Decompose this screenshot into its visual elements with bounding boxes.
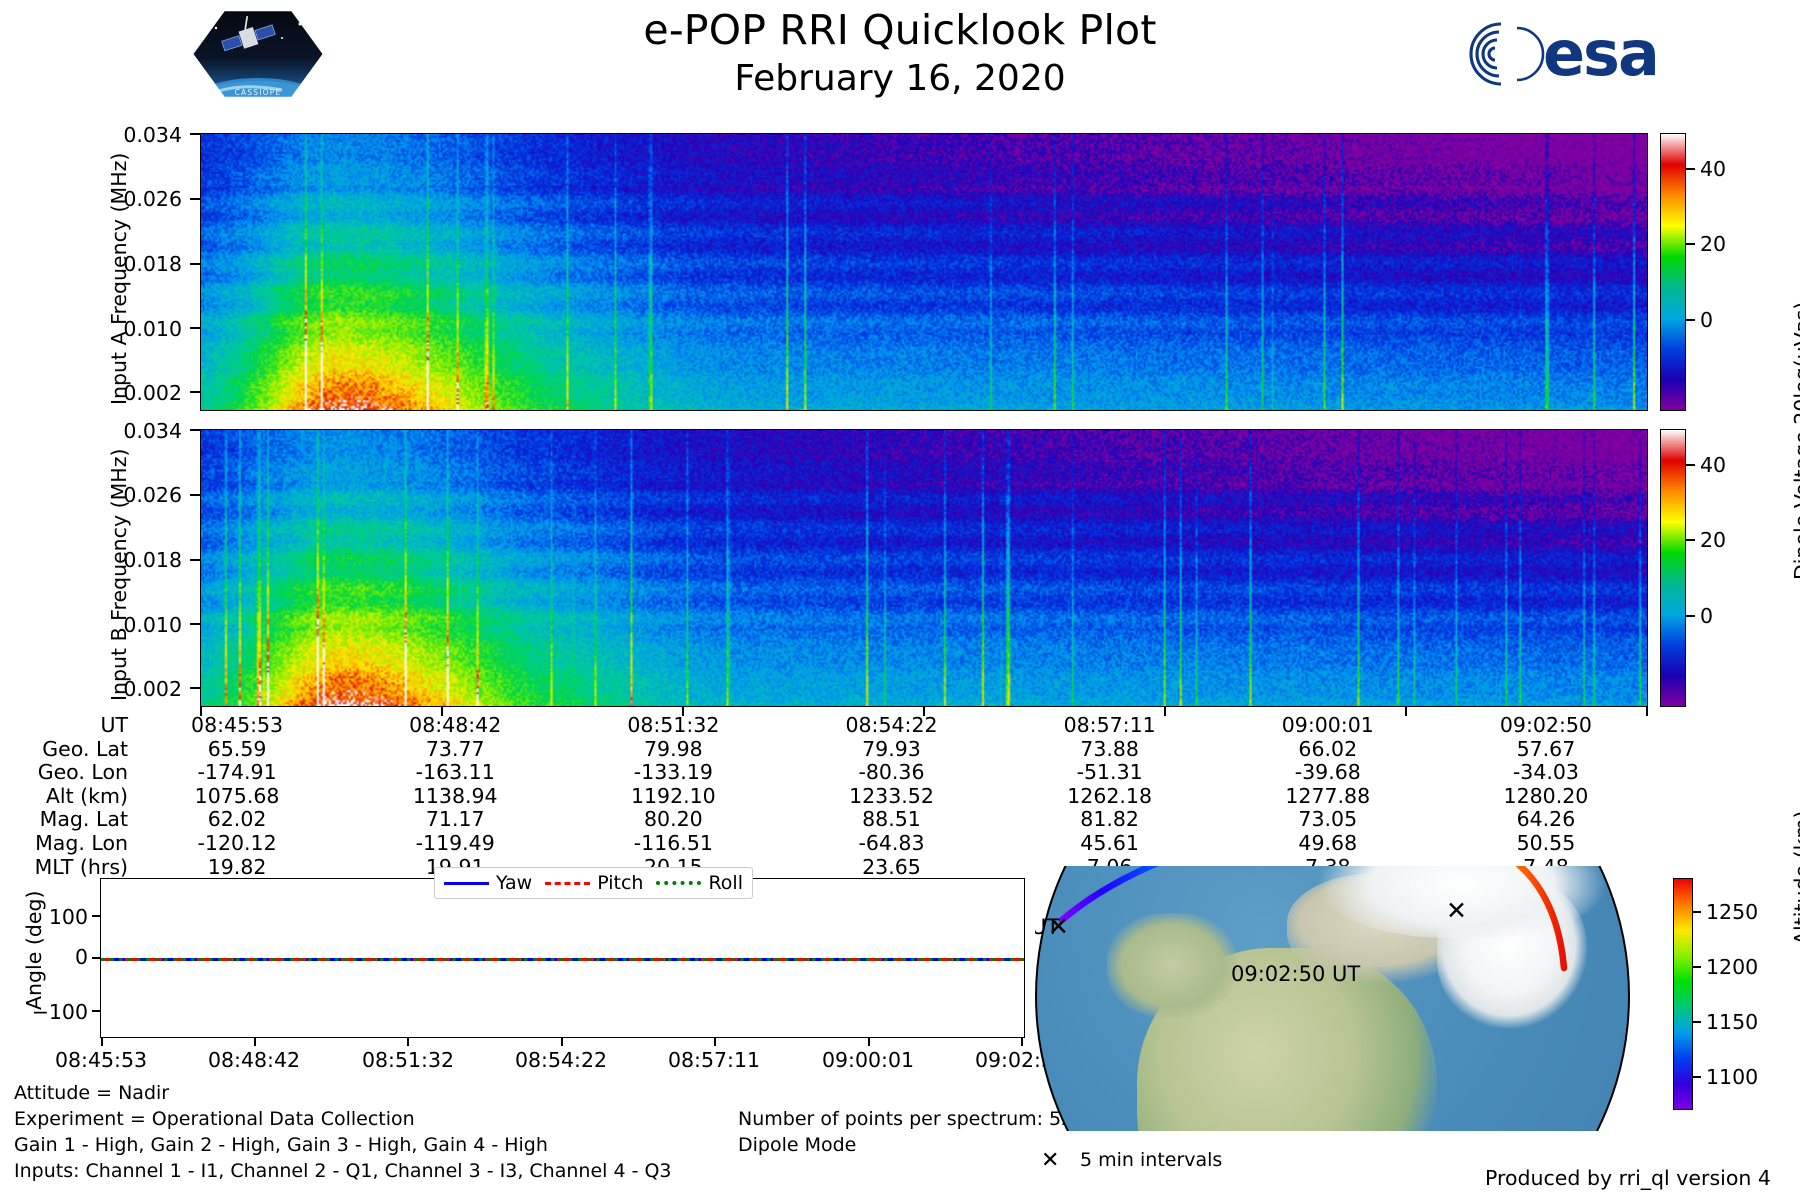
- legend-swatch-yaw: [444, 882, 489, 885]
- spectrogram-input-b[interactable]: [200, 429, 1648, 707]
- footer-experiment: Experiment = Operational Data Collection: [14, 1108, 415, 1130]
- table-row: Geo. Lat 65.59 73.77 79.98 79.93 73.88 6…: [0, 738, 1655, 762]
- cell-alt-1: 1138.94: [346, 785, 564, 809]
- cell-geolon-5: -39.68: [1219, 761, 1437, 785]
- alt-tick-1100: 1100: [1706, 1065, 1758, 1089]
- ytick-a-3: 0.010: [60, 317, 182, 341]
- ytick-b-3: 0.010: [60, 613, 182, 637]
- attitude-xtick-3: 08:54:22: [481, 1048, 641, 1072]
- cell-maglon-5: 49.68: [1219, 832, 1437, 856]
- row-label-mlt: MLT (hrs): [0, 856, 128, 880]
- footer-dipole-mode: Dipole Mode: [738, 1134, 856, 1156]
- row-label-mag-lon: Mag. Lon: [0, 832, 128, 856]
- cell-maglat-0: 62.02: [128, 808, 346, 832]
- legend-item-pitch: Pitch: [545, 872, 643, 894]
- colorbar-voltage-title: Dipole Voltage 20log(µVʙs): [1790, 302, 1800, 580]
- map-start-time-label: 08:45:53 UT: [1035, 915, 1059, 939]
- map-end-time-label: 09:02:50 UT: [1231, 962, 1360, 986]
- ytick-b-2: 0.018: [60, 548, 182, 572]
- alt-tick-1200: 1200: [1706, 955, 1758, 979]
- cell-geolat-2: 79.98: [564, 738, 782, 762]
- ytick-b-4: 0.002: [60, 677, 182, 701]
- cell-maglon-4: 45.61: [1001, 832, 1219, 856]
- cell-geolat-6: 57.67: [1437, 738, 1655, 762]
- map-legend-label: 5 min intervals: [1080, 1149, 1222, 1171]
- row-label-geo-lat: Geo. Lat: [0, 738, 128, 762]
- row-label-ut: UT: [0, 714, 128, 738]
- cell-ut-5: 09:00:01: [1219, 714, 1437, 738]
- attitude-xtick-2: 08:51:32: [328, 1048, 488, 1072]
- cell-geolat-0: 65.59: [128, 738, 346, 762]
- parameter-table: UT 08:45:53 08:48:42 08:51:32 08:54:22 0…: [0, 714, 1655, 879]
- attitude-plot[interactable]: Yaw Pitch Roll: [100, 878, 1025, 1038]
- attitude-xtick-0: 08:45:53: [21, 1048, 181, 1072]
- attitude-xtick-1: 08:48:42: [174, 1048, 334, 1072]
- attitude-legend: Yaw Pitch Roll: [434, 867, 753, 899]
- ground-track-map[interactable]: ✕ ✕ ✕ ✕ 08:45:53 UT 09:02:50 UT: [1035, 866, 1630, 1131]
- cbar-a-tick-0: 0: [1700, 308, 1713, 332]
- attitude-ytick-neg100: −100: [0, 1000, 88, 1024]
- footer-gains: Gain 1 - High, Gain 2 - High, Gain 3 - H…: [14, 1134, 548, 1156]
- cell-maglon-2: -116.51: [564, 832, 782, 856]
- svg-text:CASSIOPE: CASSIOPE: [235, 88, 282, 97]
- ytick-a-1: 0.026: [60, 187, 182, 211]
- legend-swatch-pitch: [545, 882, 590, 885]
- table-row: Mag. Lon -120.12 -119.49 -116.51 -64.83 …: [0, 832, 1655, 856]
- colorbar-dipole-voltage-a: [1660, 133, 1686, 411]
- cell-ut-1: 08:48:42: [346, 714, 564, 738]
- cell-mlt-3: 23.65: [782, 856, 1000, 880]
- cell-alt-3: 1233.52: [782, 785, 1000, 809]
- esa-wordmark: esa: [1543, 18, 1658, 90]
- cell-geolon-0: -174.91: [128, 761, 346, 785]
- cell-ut-4: 08:57:11: [1001, 714, 1219, 738]
- cell-ut-3: 08:54:22: [782, 714, 1000, 738]
- ytick-a-4: 0.002: [60, 381, 182, 405]
- cell-ut-2: 08:51:32: [564, 714, 782, 738]
- cbar-b-tick-20: 20: [1700, 528, 1726, 552]
- globe-graphic: [1035, 866, 1630, 1131]
- colorbar-altitude-title: Altitude (km): [1790, 811, 1800, 945]
- legend-label-yaw: Yaw: [496, 872, 532, 894]
- cell-geolon-2: -133.19: [564, 761, 782, 785]
- cell-alt-5: 1277.88: [1219, 785, 1437, 809]
- legend-label-pitch: Pitch: [597, 872, 643, 894]
- cell-geolon-4: -51.31: [1001, 761, 1219, 785]
- cell-alt-6: 1280.20: [1437, 785, 1655, 809]
- cell-geolon-3: -80.36: [782, 761, 1000, 785]
- attitude-ytick-0: 0: [0, 945, 88, 969]
- alt-tick-1250: 1250: [1706, 900, 1758, 924]
- cell-geolon-1: -163.11: [346, 761, 564, 785]
- colorbar-dipole-voltage-b: [1660, 429, 1686, 707]
- cell-maglat-3: 88.51: [782, 808, 1000, 832]
- cell-maglat-5: 73.05: [1219, 808, 1437, 832]
- footer-attitude: Attitude = Nadir: [14, 1082, 169, 1104]
- cell-geolat-1: 73.77: [346, 738, 564, 762]
- cell-maglat-6: 64.26: [1437, 808, 1655, 832]
- alt-tick-1150: 1150: [1706, 1010, 1758, 1034]
- legend-label-roll: Roll: [708, 872, 743, 894]
- spectrogram-input-a[interactable]: [200, 133, 1648, 411]
- cbar-a-tick-20: 20: [1700, 232, 1726, 256]
- cbar-b-tick-40: 40: [1700, 453, 1726, 477]
- cell-alt-2: 1192.10: [564, 785, 782, 809]
- row-label-alt: Alt (km): [0, 785, 128, 809]
- ytick-a-0: 0.034: [60, 123, 182, 147]
- ytick-b-1: 0.026: [60, 483, 182, 507]
- cell-maglon-3: -64.83: [782, 832, 1000, 856]
- cell-geolat-5: 66.02: [1219, 738, 1437, 762]
- cell-maglat-4: 81.82: [1001, 808, 1219, 832]
- esa-logo: esa: [1455, 18, 1735, 90]
- table-row: Geo. Lon -174.91 -163.11 -133.19 -80.36 …: [0, 761, 1655, 785]
- legend-swatch-roll: [656, 881, 701, 885]
- attitude-xtick-4: 08:57:11: [634, 1048, 794, 1072]
- table-row: UT 08:45:53 08:48:42 08:51:32 08:54:22 0…: [0, 714, 1655, 738]
- ytick-b-0: 0.034: [60, 419, 182, 443]
- attitude-xtick-5: 09:00:01: [788, 1048, 948, 1072]
- attitude-traces: [101, 958, 1024, 962]
- cell-geolat-3: 79.93: [782, 738, 1000, 762]
- footer-inputs: Inputs: Channel 1 - I1, Channel 2 - Q1, …: [14, 1160, 672, 1182]
- cell-maglon-6: 50.55: [1437, 832, 1655, 856]
- cell-maglon-0: -120.12: [128, 832, 346, 856]
- credit-text: Produced by rri_ql version 4: [1485, 1166, 1771, 1190]
- legend-item-yaw: Yaw: [444, 872, 532, 894]
- table-row: Alt (km) 1075.68 1138.94 1192.10 1233.52…: [0, 785, 1655, 809]
- cell-ut-6: 09:02:50: [1437, 714, 1655, 738]
- row-label-mag-lat: Mag. Lat: [0, 808, 128, 832]
- cell-geolat-4: 73.88: [1001, 738, 1219, 762]
- table-row: Mag. Lat 62.02 71.17 80.20 88.51 81.82 7…: [0, 808, 1655, 832]
- colorbar-altitude: [1673, 878, 1693, 1110]
- legend-item-roll: Roll: [656, 872, 743, 894]
- cbar-b-tick-0: 0: [1700, 604, 1713, 628]
- cell-ut-0: 08:45:53: [128, 714, 346, 738]
- attitude-ytick-100: 100: [0, 905, 88, 929]
- x-marker-legend-icon: ✕: [1041, 1148, 1059, 1173]
- cell-alt-4: 1262.18: [1001, 785, 1219, 809]
- cell-mlt-0: 19.82: [128, 856, 346, 880]
- x-marker-icon: ✕: [1446, 898, 1467, 923]
- row-label-geo-lon: Geo. Lon: [0, 761, 128, 785]
- orbit-track: [1037, 866, 1630, 1131]
- cell-maglat-1: 71.17: [346, 808, 564, 832]
- ytick-a-2: 0.018: [60, 252, 182, 276]
- cassiope-satellite-logo: CASSIOPE: [190, 8, 326, 100]
- cell-geolon-6: -34.03: [1437, 761, 1655, 785]
- cell-alt-0: 1075.68: [128, 785, 346, 809]
- cell-maglat-2: 80.20: [564, 808, 782, 832]
- cbar-a-tick-40: 40: [1700, 157, 1726, 181]
- cell-maglon-1: -119.49: [346, 832, 564, 856]
